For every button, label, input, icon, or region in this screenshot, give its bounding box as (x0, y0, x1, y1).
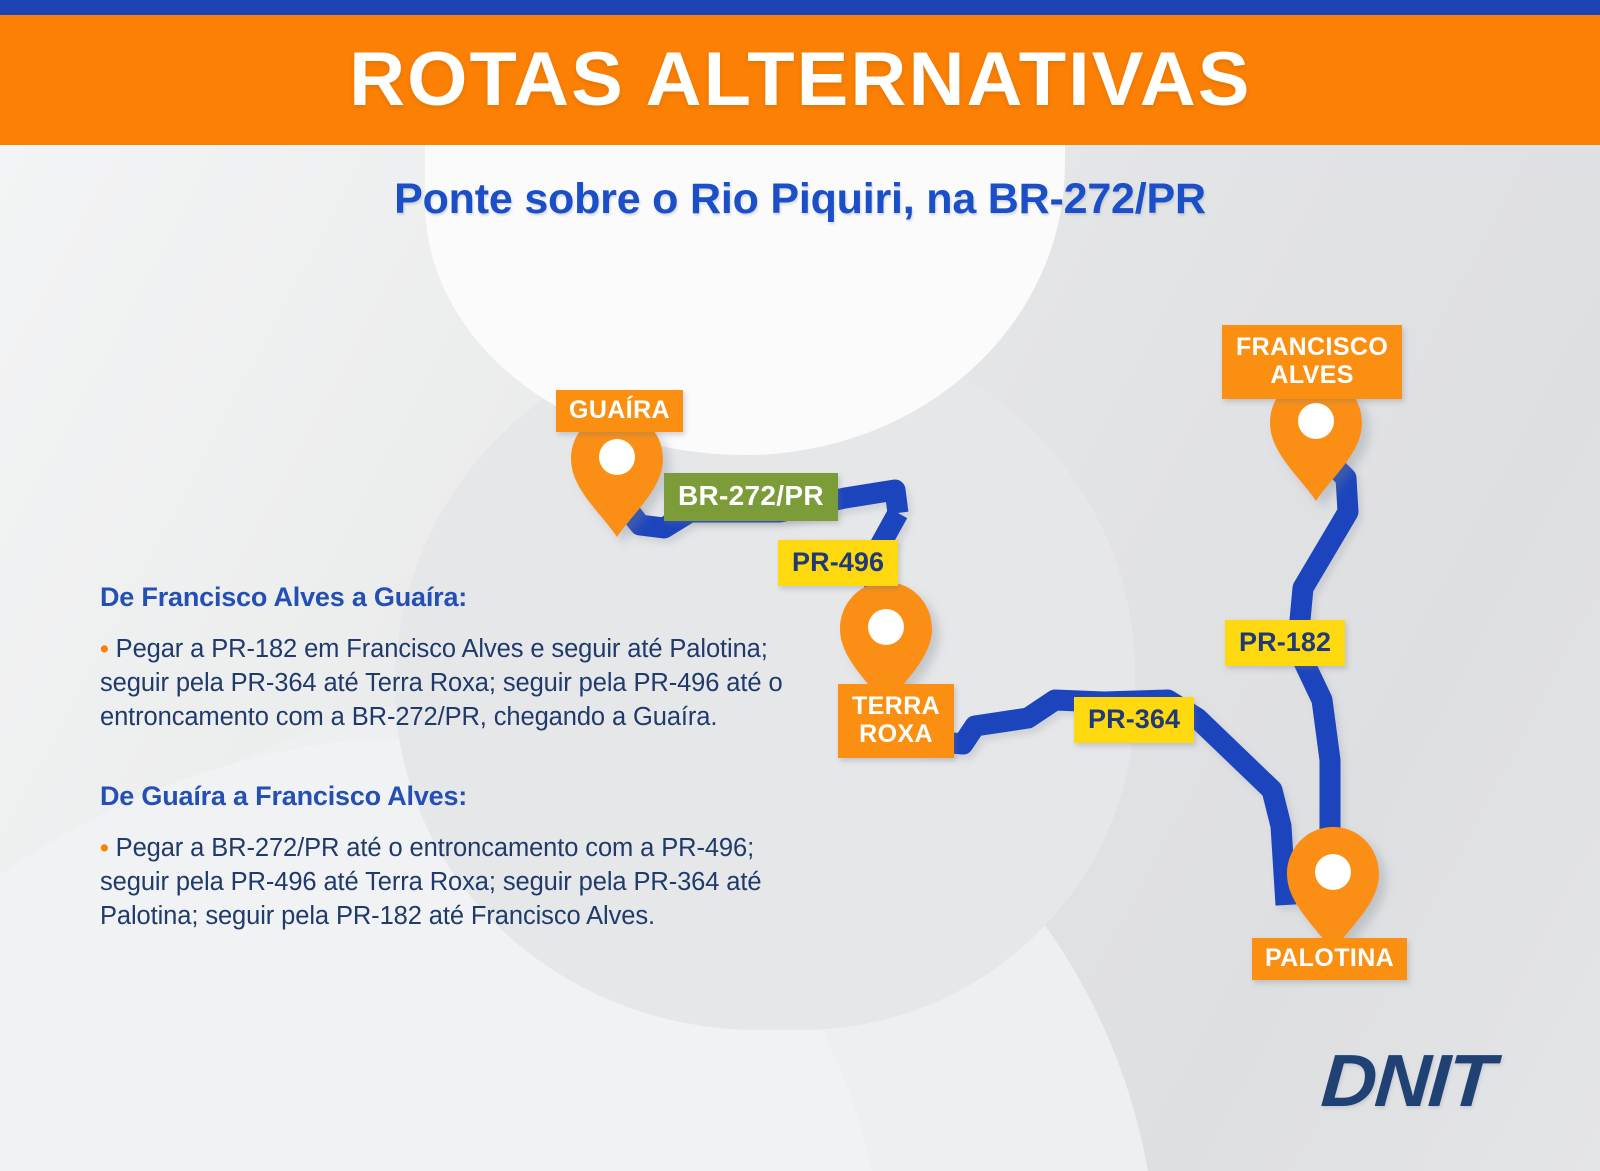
section-2-heading: De Guaíra a Francisco Alves: (100, 781, 790, 812)
section-2-body: • Pegar a BR-272/PR até o entroncamento … (100, 832, 790, 934)
road-label-pr-496: PR-496 (778, 540, 898, 586)
page-subtitle: Ponte sobre o Rio Piquiri, na BR-272/PR (0, 175, 1600, 224)
city-label-palotina: PALOTINA (1252, 938, 1407, 980)
section-2-text: Pegar a BR-272/PR até o entroncamento co… (100, 834, 761, 930)
road-label-pr-182: PR-182 (1225, 620, 1345, 666)
city-label-terra-roxa-line2: ROXA (852, 720, 940, 748)
road-label-br-272-pr: BR-272/PR (664, 473, 838, 521)
direction-section-1: De Francisco Alves a Guaíra: • Pegar a P… (100, 582, 790, 735)
city-label-francisco-alves: FRANCISCO ALVES (1222, 325, 1402, 399)
city-label-guaira: GUAÍRA (556, 390, 683, 432)
direction-section-2: De Guaíra a Francisco Alves: • Pegar a B… (100, 781, 790, 934)
top-blue-bar (0, 0, 1600, 15)
city-label-francisco-alves-line2: ALVES (1236, 361, 1388, 389)
section-1-heading: De Francisco Alves a Guaíra: (100, 582, 790, 613)
city-label-guaira-line1: GUAÍRA (569, 396, 670, 424)
road-label-pr-364: PR-364 (1074, 697, 1194, 743)
directions-column: De Francisco Alves a Guaíra: • Pegar a P… (100, 582, 790, 933)
section-1-bullet: • (100, 635, 109, 663)
infographic-poster: ROTAS ALTERNATIVAS Ponte sobre o Rio Piq… (0, 0, 1600, 1171)
city-label-palotina-line1: PALOTINA (1265, 944, 1394, 972)
section-1-body: • Pegar a PR-182 em Francisco Alves e se… (100, 633, 790, 735)
section-spacer (100, 735, 790, 781)
section-2-bullet: • (100, 834, 109, 862)
city-label-terra-roxa-line1: TERRA (852, 692, 940, 720)
section-1-text: Pegar a PR-182 em Francisco Alves e segu… (100, 635, 783, 731)
title-banner: ROTAS ALTERNATIVAS (0, 15, 1600, 145)
city-label-francisco-alves-line1: FRANCISCO (1236, 333, 1388, 361)
page-title: ROTAS ALTERNATIVAS (349, 42, 1251, 118)
dnit-logo: DNIT (1319, 1038, 1496, 1123)
city-label-terra-roxa: TERRA ROXA (838, 684, 954, 758)
